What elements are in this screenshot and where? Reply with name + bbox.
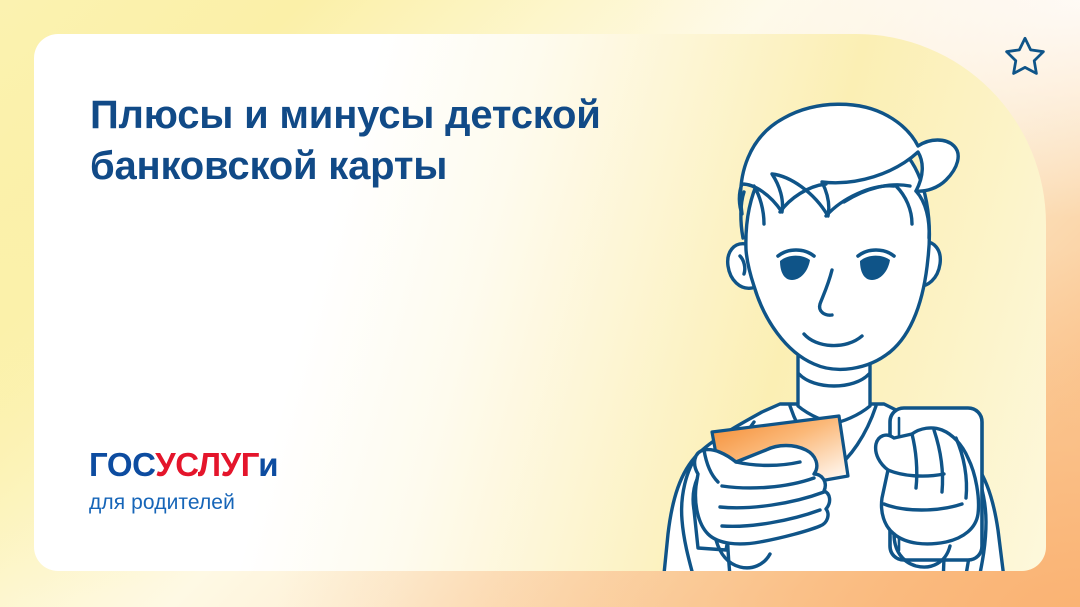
gosuslugi-logo: ГОСУСЛУГи для родителей	[89, 448, 278, 513]
star-icon	[1002, 33, 1048, 79]
page-title: Плюсы и минусы детской банковской карты	[90, 90, 730, 192]
logo-wordmark-part1: ГОС	[89, 446, 155, 483]
logo-wordmark-part3: и	[258, 446, 278, 483]
slide-canvas: Плюсы и минусы детской банковской карты …	[0, 0, 1080, 607]
logo-subtitle: для родителей	[89, 492, 278, 513]
logo-wordmark-part2: УСЛУГ	[155, 446, 258, 483]
logo-wordmark: ГОСУСЛУГи	[89, 448, 278, 481]
content-card: Плюсы и минусы детской банковской карты …	[34, 34, 1046, 571]
